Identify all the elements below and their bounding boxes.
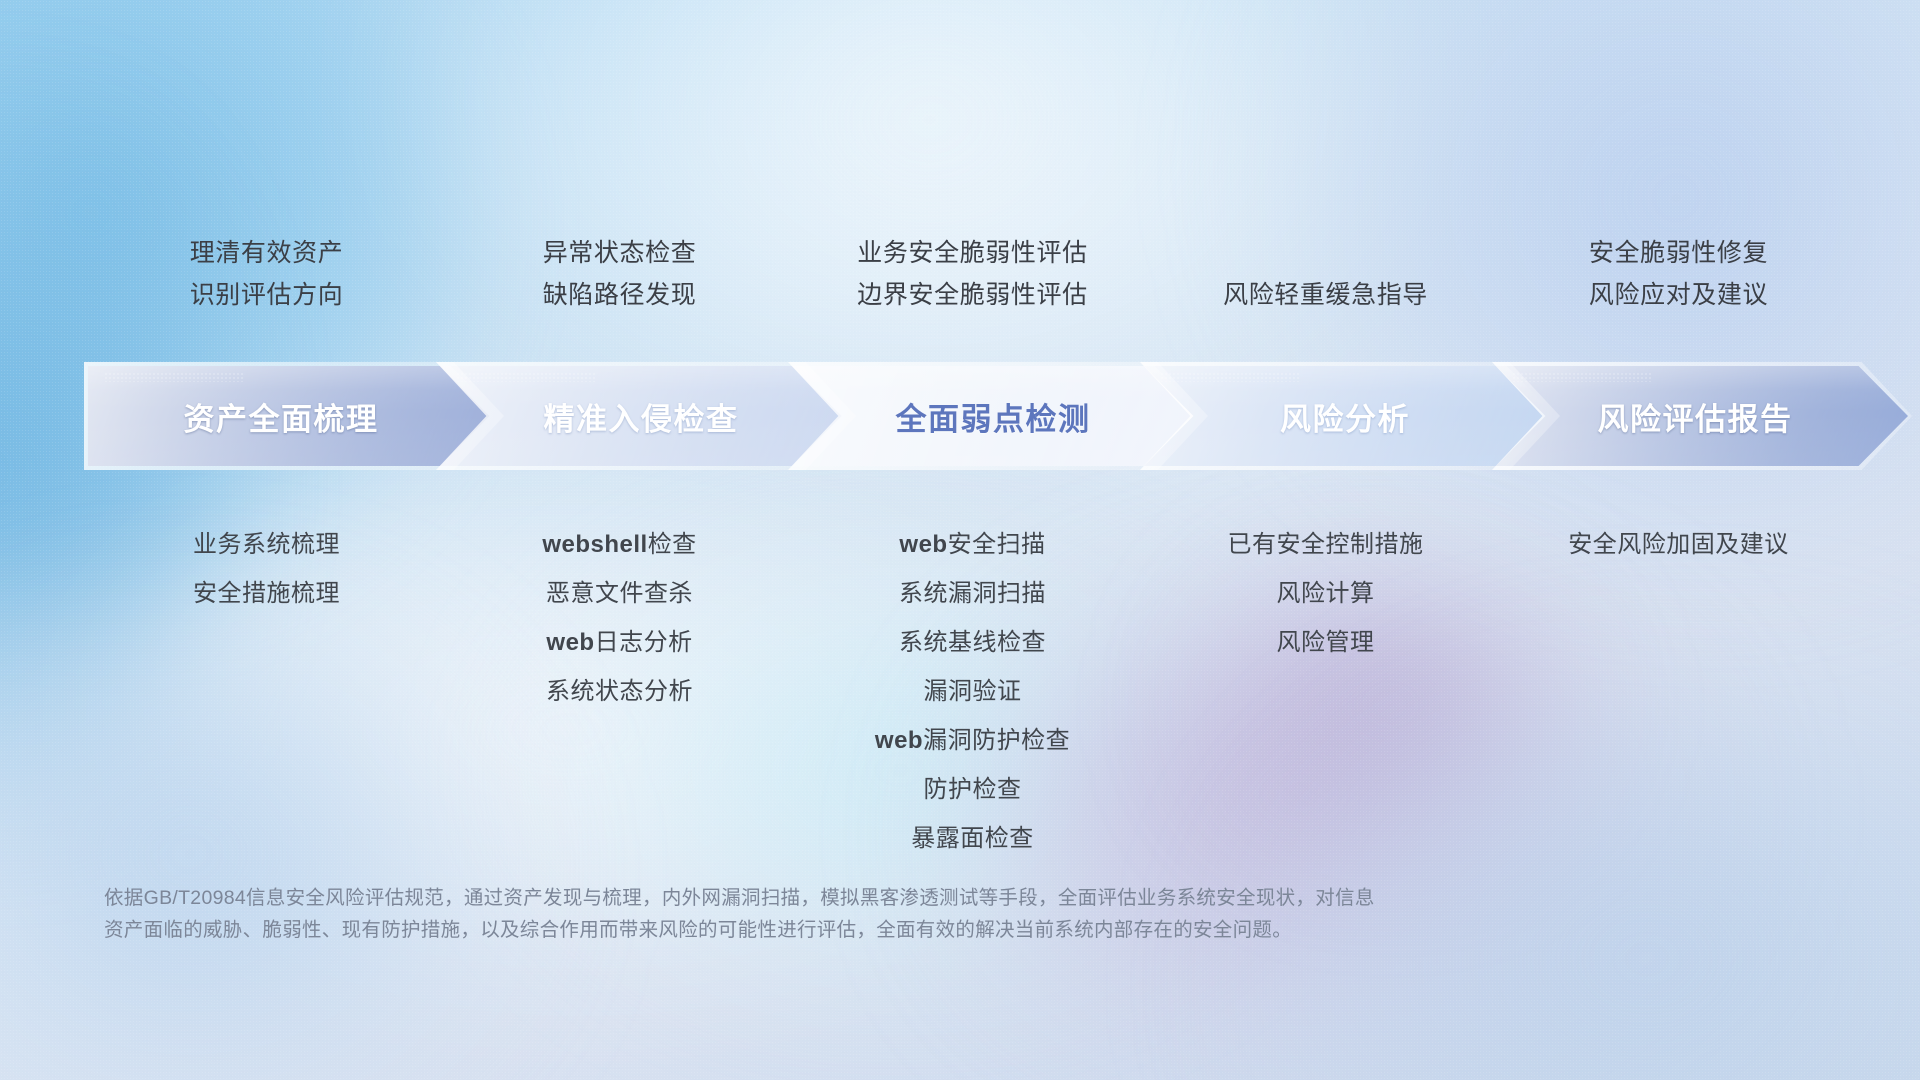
- bottom-label: web漏洞防护检查: [796, 716, 1149, 765]
- stage-arrow-label: 精准入侵检查: [544, 394, 739, 439]
- bottom-label: 已有安全控制措施: [1149, 520, 1502, 569]
- bottom-label-cn: 风险计算: [1277, 580, 1375, 607]
- bottom-label-cn: 漏洞验证: [924, 678, 1022, 705]
- bottom-label-cn: 检查: [648, 531, 697, 558]
- top-labels-row: 理清有效资产 识别评估方向 异常状态检查 缺陷路径发现 业务安全脆弱性评估 边界…: [90, 232, 1855, 316]
- bottom-label: 漏洞验证: [796, 667, 1149, 716]
- process-diagram: 理清有效资产 识别评估方向 异常状态检查 缺陷路径发现 业务安全脆弱性评估 边界…: [0, 0, 1920, 1080]
- top-labels-stage-4: 风险轻重缓急指导: [1149, 232, 1502, 316]
- bottom-label-cn: 系统漏洞扫描: [899, 580, 1046, 607]
- top-labels-stage-2: 异常状态检查 缺陷路径发现: [443, 232, 796, 316]
- bottom-label-cn: 安全扫描: [948, 531, 1046, 558]
- stage-arrow-label: 资产全面梳理: [184, 394, 379, 439]
- footer-line-1: 依据GB/T20984信息安全风险评估规范，通过资产发现与梳理，内外网漏洞扫描，…: [104, 882, 1644, 914]
- arrow-dot-texture: [104, 372, 244, 382]
- bottom-label-cn: 风险管理: [1277, 629, 1375, 656]
- footer-line-2: 资产面临的威胁、脆弱性、现有防护措施，以及综合作用而带来风险的可能性进行评估，全…: [104, 914, 1644, 946]
- bottom-label: 业务系统梳理: [90, 520, 443, 569]
- bottom-label: webshell检查: [443, 520, 796, 569]
- top-labels-stage-5: 安全脆弱性修复 风险应对及建议: [1502, 232, 1855, 316]
- stage-arrow-asset-inventory[interactable]: 资产全面梳理: [88, 366, 500, 466]
- bottom-label-cn: 安全风险加固及建议: [1568, 531, 1789, 558]
- arrow-dot-texture: [1160, 372, 1300, 382]
- stage-arrow-band: 资产全面梳理 精准入侵检查 全面弱点检测 风险分析 风: [88, 366, 1856, 466]
- bottom-label: 安全风险加固及建议: [1502, 520, 1855, 569]
- bottom-label-cn: 业务系统梳理: [193, 531, 340, 558]
- bottom-labels-stage-4: 已有安全控制措施风险计算风险管理: [1149, 520, 1502, 863]
- bottom-labels-stage-3: web安全扫描系统漏洞扫描系统基线检查漏洞验证web漏洞防护检查防护检查暴露面检…: [796, 520, 1149, 863]
- bottom-label-cn: 安全措施梳理: [193, 580, 340, 607]
- top-label: 识别评估方向: [90, 274, 443, 316]
- bottom-label-latin: web: [875, 727, 923, 754]
- top-label: 安全脆弱性修复: [1502, 232, 1855, 274]
- bottom-label-latin: web: [899, 531, 947, 558]
- bottom-labels-stage-1: 业务系统梳理安全措施梳理: [90, 520, 443, 863]
- top-labels-stage-3: 业务安全脆弱性评估 边界安全脆弱性评估: [796, 232, 1149, 316]
- bottom-labels-stage-2: webshell检查恶意文件查杀web日志分析系统状态分析: [443, 520, 796, 863]
- bottom-label: 系统漏洞扫描: [796, 569, 1149, 618]
- bottom-labels-row: 业务系统梳理安全措施梳理 webshell检查恶意文件查杀web日志分析系统状态…: [90, 520, 1855, 863]
- arrow-dot-texture: [1512, 372, 1652, 382]
- stage-arrow-label: 风险评估报告: [1598, 394, 1793, 439]
- bottom-label-latin: web: [546, 629, 594, 656]
- bottom-label-cn: 恶意文件查杀: [546, 580, 693, 607]
- bottom-label-cn: 漏洞防护检查: [923, 727, 1070, 754]
- top-label: 风险应对及建议: [1502, 274, 1855, 316]
- stage-arrow-risk-analysis[interactable]: 风险分析: [1144, 366, 1556, 466]
- bottom-label: 防护检查: [796, 765, 1149, 814]
- bottom-label-latin: webshell: [542, 531, 647, 558]
- bottom-label: 系统基线检查: [796, 618, 1149, 667]
- bottom-label: 暴露面检查: [796, 814, 1149, 863]
- bottom-label: web安全扫描: [796, 520, 1149, 569]
- bottom-label-cn: 已有安全控制措施: [1228, 531, 1424, 558]
- top-label: 业务安全脆弱性评估: [796, 232, 1149, 274]
- bottom-label-cn: 防护检查: [924, 776, 1022, 803]
- stage-arrow-label: 全面弱点检测: [896, 394, 1091, 439]
- stage-arrow-intrusion-check[interactable]: 精准入侵检查: [440, 366, 852, 466]
- top-label: 边界安全脆弱性评估: [796, 274, 1149, 316]
- stage-arrow-weakness-detection[interactable]: 全面弱点检测: [792, 366, 1204, 466]
- arrow-dot-texture: [456, 372, 596, 382]
- bottom-label-cn: 系统状态分析: [546, 678, 693, 705]
- stage-arrow-label: 风险分析: [1280, 394, 1410, 439]
- bottom-label-cn: 系统基线检查: [899, 629, 1046, 656]
- bottom-labels-stage-5: 安全风险加固及建议: [1502, 520, 1855, 863]
- top-label: 理清有效资产: [90, 232, 443, 274]
- bottom-label: 风险管理: [1149, 618, 1502, 667]
- top-label: 风险轻重缓急指导: [1149, 274, 1502, 316]
- bottom-label: 安全措施梳理: [90, 569, 443, 618]
- footer-description: 依据GB/T20984信息安全风险评估规范，通过资产发现与梳理，内外网漏洞扫描，…: [104, 882, 1644, 946]
- bottom-label: 风险计算: [1149, 569, 1502, 618]
- bottom-label-cn: 暴露面检查: [911, 825, 1034, 852]
- bottom-label: web日志分析: [443, 618, 796, 667]
- bottom-label: 系统状态分析: [443, 667, 796, 716]
- bottom-label-cn: 日志分析: [595, 629, 693, 656]
- top-label: 异常状态检查: [443, 232, 796, 274]
- top-label: 缺陷路径发现: [443, 274, 796, 316]
- stage-arrow-risk-report[interactable]: 风险评估报告: [1496, 366, 1908, 466]
- top-labels-stage-1: 理清有效资产 识别评估方向: [90, 232, 443, 316]
- bottom-label: 恶意文件查杀: [443, 569, 796, 618]
